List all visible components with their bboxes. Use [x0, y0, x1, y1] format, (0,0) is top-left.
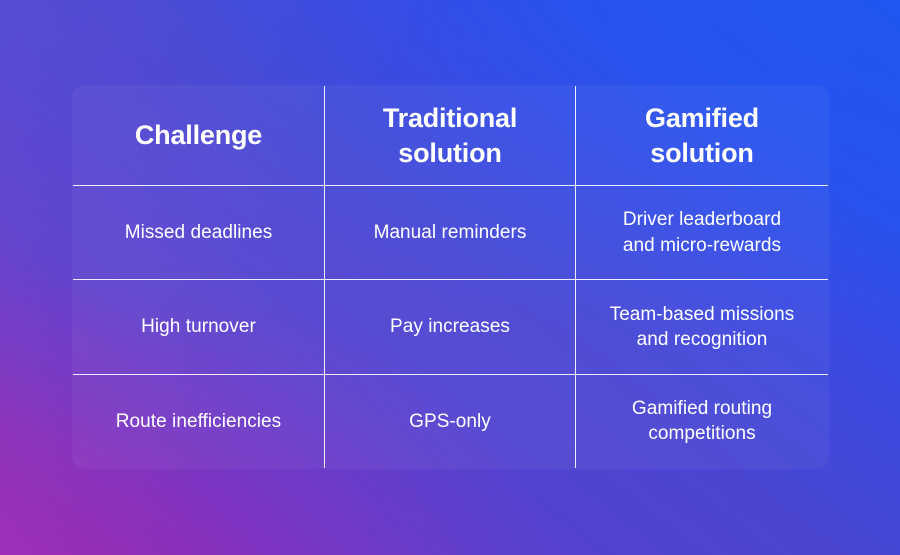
cell-traditional-2: Pay increases	[325, 280, 576, 374]
cell-challenge-1: Missed deadlines	[73, 186, 325, 280]
cell-gamified-3-line-1: Gamified routing	[590, 396, 814, 421]
cell-challenge-3-line-1: Route inefficiencies	[87, 409, 310, 434]
comparison-table: Challenge Traditional solution Gamified …	[72, 85, 829, 469]
table-body: Missed deadlines Manual reminders Driver…	[73, 186, 829, 469]
table-header: Challenge Traditional solution Gamified …	[73, 86, 829, 186]
cell-challenge-2-line-1: High turnover	[87, 314, 310, 339]
cell-traditional-3: GPS-only	[325, 374, 576, 468]
column-header-challenge: Challenge	[73, 86, 325, 186]
table-row: Route inefficiencies GPS-only Gamified r…	[73, 374, 829, 468]
cell-traditional-1: Manual reminders	[325, 186, 576, 280]
cell-challenge-1-line-1: Missed deadlines	[87, 220, 310, 245]
cell-challenge-2: High turnover	[73, 280, 325, 374]
table-row: High turnover Pay increases Team-based m…	[73, 280, 829, 374]
column-header-gamified-solution-line-2: solution	[590, 136, 814, 170]
cell-gamified-3: Gamified routing competitions	[576, 374, 829, 468]
column-header-traditional-solution-line-1: Traditional	[339, 101, 561, 135]
cell-traditional-1-line-1: Manual reminders	[339, 220, 561, 245]
cell-challenge-3: Route inefficiencies	[73, 374, 325, 468]
cell-gamified-1-line-1: Driver leaderboard	[590, 207, 814, 232]
cell-gamified-2: Team-based missions and recognition	[576, 280, 829, 374]
cell-gamified-3-line-2: competitions	[590, 421, 814, 446]
column-header-gamified-solution-line-1: Gamified	[590, 101, 814, 135]
column-header-gamified-solution: Gamified solution	[576, 86, 829, 186]
table-header-row: Challenge Traditional solution Gamified …	[73, 86, 829, 186]
cell-traditional-2-line-1: Pay increases	[339, 314, 561, 339]
cell-gamified-1-line-2: and micro-rewards	[590, 233, 814, 258]
cell-gamified-2-line-1: Team-based missions	[590, 302, 814, 327]
comparison-table-container: Challenge Traditional solution Gamified …	[72, 85, 828, 469]
column-header-traditional-solution-line-2: solution	[339, 136, 561, 170]
column-header-challenge-line-1: Challenge	[87, 118, 310, 152]
table-row: Missed deadlines Manual reminders Driver…	[73, 186, 829, 280]
cell-gamified-1: Driver leaderboard and micro-rewards	[576, 186, 829, 280]
column-header-traditional-solution: Traditional solution	[325, 86, 576, 186]
cell-traditional-3-line-1: GPS-only	[339, 409, 561, 434]
slide-canvas: Challenge Traditional solution Gamified …	[0, 0, 900, 555]
cell-gamified-2-line-2: and recognition	[590, 327, 814, 352]
